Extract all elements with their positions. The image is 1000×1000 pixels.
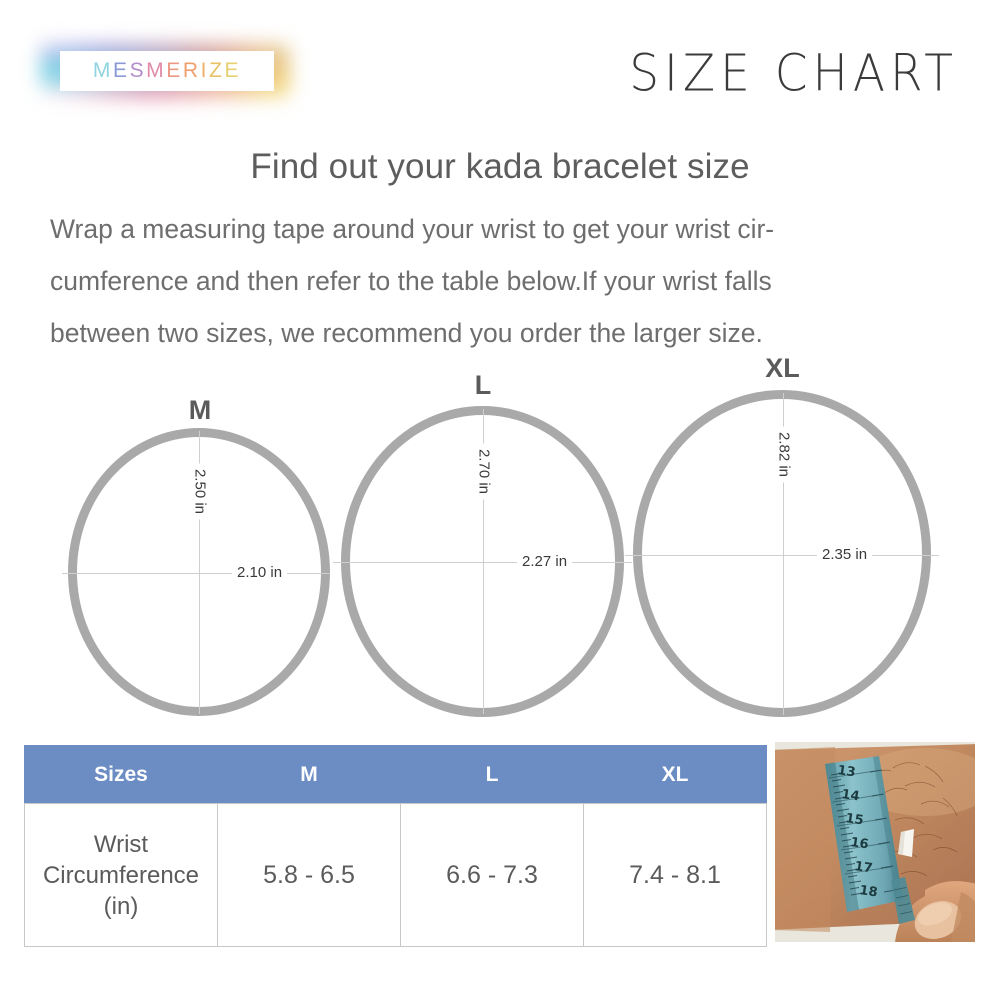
oval-label-l: L (333, 370, 633, 401)
oval-label-m: M (60, 395, 340, 426)
oval-guide-horizontal-l (333, 562, 632, 563)
table-cell-l: 6.6 - 7.3 (401, 804, 584, 947)
table-col-xl: XL (584, 746, 767, 804)
forearm-shadow (775, 747, 835, 932)
table-header-row: Sizes M L XL (25, 746, 767, 804)
oval-figure-l: L 2.70 in 2.27 in (333, 362, 633, 727)
logo-wordmark: MESMERIZE (93, 59, 241, 83)
oval-figure-xl: XL 2.82 in 2.35 in (625, 348, 940, 730)
row-label-line-3: (in) (26, 891, 216, 922)
table-row-label: Wrist Circumference (in) (25, 804, 218, 947)
size-table: Sizes M L XL Wrist Circumference (in) 5.… (24, 745, 767, 947)
wrist-measurement-photo: 13 14 15 16 17 18 (775, 742, 975, 942)
tape-number-15: 15 (844, 811, 864, 828)
tape-number-17: 17 (853, 859, 873, 876)
oval-guide-horizontal-xl (625, 555, 939, 556)
brand-logo: MESMERIZE (40, 43, 290, 99)
table-col-m: M (218, 746, 401, 804)
logo-letter-0: M (93, 59, 113, 83)
oval-figure-m: M 2.50 in 2.10 in (60, 385, 340, 725)
row-label-line-1: Wrist (26, 829, 216, 860)
oval-height-label-l: 2.70 in (473, 444, 496, 500)
table-cell-m: 5.8 - 6.5 (218, 804, 401, 947)
logo-letter-4: E (166, 59, 183, 83)
oval-label-xl: XL (625, 353, 940, 384)
wrist-photo-illustration: 13 14 15 16 17 18 (775, 742, 975, 942)
logo-plate: MESMERIZE (60, 51, 274, 91)
section-heading: Find out your kada bracelet size (0, 147, 1000, 187)
intro-line-1: Wrap a measuring tape around your wrist … (50, 203, 955, 255)
tape-number-13: 13 (836, 763, 856, 780)
row-label-line-2: Circumference (26, 860, 216, 891)
oval-diagram-group: M 2.50 in 2.10 in L 2.70 in 2.27 in XL 2… (0, 340, 1000, 740)
logo-letter-1: E (113, 59, 130, 83)
oval-width-label-m: 2.10 in (232, 564, 287, 581)
tape-number-14: 14 (840, 787, 860, 804)
oval-width-label-l: 2.27 in (517, 553, 572, 570)
logo-letter-7: Z (209, 59, 224, 83)
table-cell-xl: 7.4 - 8.1 (584, 804, 767, 947)
logo-letter-6: I (201, 59, 209, 83)
oval-height-label-xl: 2.82 in (773, 427, 796, 483)
logo-letter-3: M (146, 59, 166, 83)
oval-height-label-m: 2.50 in (189, 464, 212, 520)
intro-line-2: cumference and then refer to the table b… (50, 255, 955, 307)
tape-number-16: 16 (849, 835, 869, 852)
logo-letter-2: S (130, 59, 147, 83)
page-title: SIZE CHART (629, 44, 958, 103)
intro-paragraph: Wrap a measuring tape around your wrist … (50, 203, 955, 359)
logo-letter-8: E (225, 59, 242, 83)
logo-letter-5: R (183, 59, 201, 83)
tape-number-18: 18 (858, 883, 878, 900)
table-col-l: L (401, 746, 584, 804)
oval-width-label-xl: 2.35 in (817, 546, 872, 563)
oval-guide-horizontal-m (62, 573, 330, 574)
table-col-sizes: Sizes (25, 746, 218, 804)
table-row: Wrist Circumference (in) 5.8 - 6.5 6.6 -… (25, 804, 767, 947)
